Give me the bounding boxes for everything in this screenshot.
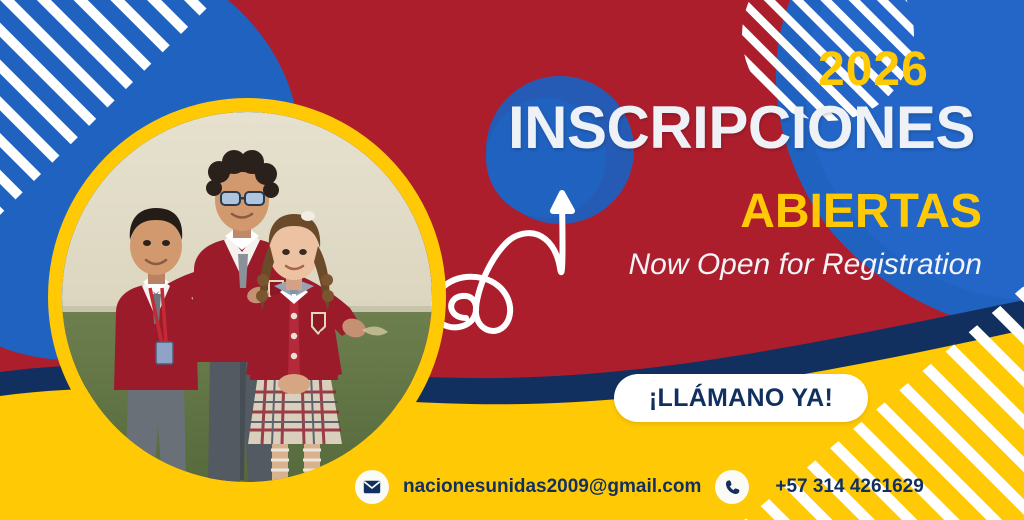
call-now-button[interactable]: ¡LLÁMANO YA! [614, 374, 868, 422]
year-label: 2026 [818, 46, 929, 94]
headline: INSCRIPCIONES [508, 98, 975, 158]
envelope-icon [355, 470, 389, 504]
subheadline: ABIERTAS [740, 188, 982, 236]
registration-banner: 2026 INSCRIPCIONES ABIERTAS Now Open for… [0, 0, 1024, 520]
phone-text[interactable]: +57 314 4261629 [775, 476, 923, 498]
tagline: Now Open for Registration [629, 248, 983, 281]
phone-icon [715, 470, 749, 504]
envelope-glyph [363, 480, 381, 494]
photo-circle [62, 112, 432, 482]
call-now-button-label: ¡LLÁMANO YA! [649, 384, 833, 413]
email-text[interactable]: nacionesunidas2009@gmail.com [403, 476, 701, 498]
contact-bar: nacionesunidas2009@gmail.com +57 314 426… [355, 462, 924, 512]
phone-glyph [724, 479, 741, 496]
students-photo [62, 112, 432, 482]
